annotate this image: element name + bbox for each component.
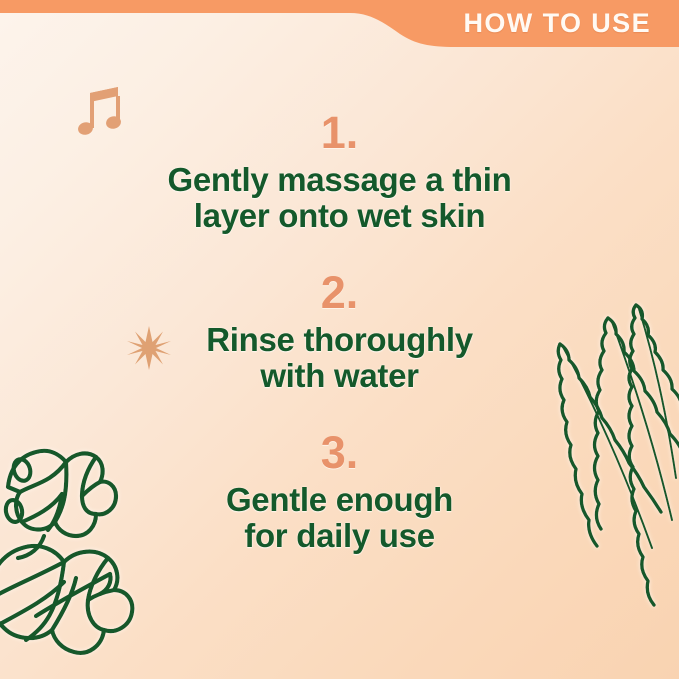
step-number-3: 3. (0, 428, 679, 478)
step-text-line: layer onto wet skin (0, 198, 679, 234)
step-number-2: 2. (0, 268, 679, 318)
step-text-3: Gentle enough for daily use (0, 482, 679, 554)
step-number-1: 1. (0, 108, 679, 158)
step-text-1: Gently massage a thin layer onto wet ski… (0, 162, 679, 234)
step-item-3: 3. Gentle enough for daily use (0, 428, 679, 554)
step-text-line: Gently massage a thin (0, 162, 679, 198)
step-text-line: with water (0, 358, 679, 394)
how-to-use-poster: HOW TO USE 1. Gently massage a thin laye… (0, 0, 679, 679)
step-text-2: Rinse thoroughly with water (0, 322, 679, 394)
step-text-line: Gentle enough (0, 482, 679, 518)
step-text-line: for daily use (0, 518, 679, 554)
step-item-2: 2. Rinse thoroughly with water (0, 268, 679, 394)
steps-list: 1. Gently massage a thin layer onto wet … (0, 0, 679, 679)
step-text-line: Rinse thoroughly (0, 322, 679, 358)
step-item-1: 1. Gently massage a thin layer onto wet … (0, 108, 679, 234)
